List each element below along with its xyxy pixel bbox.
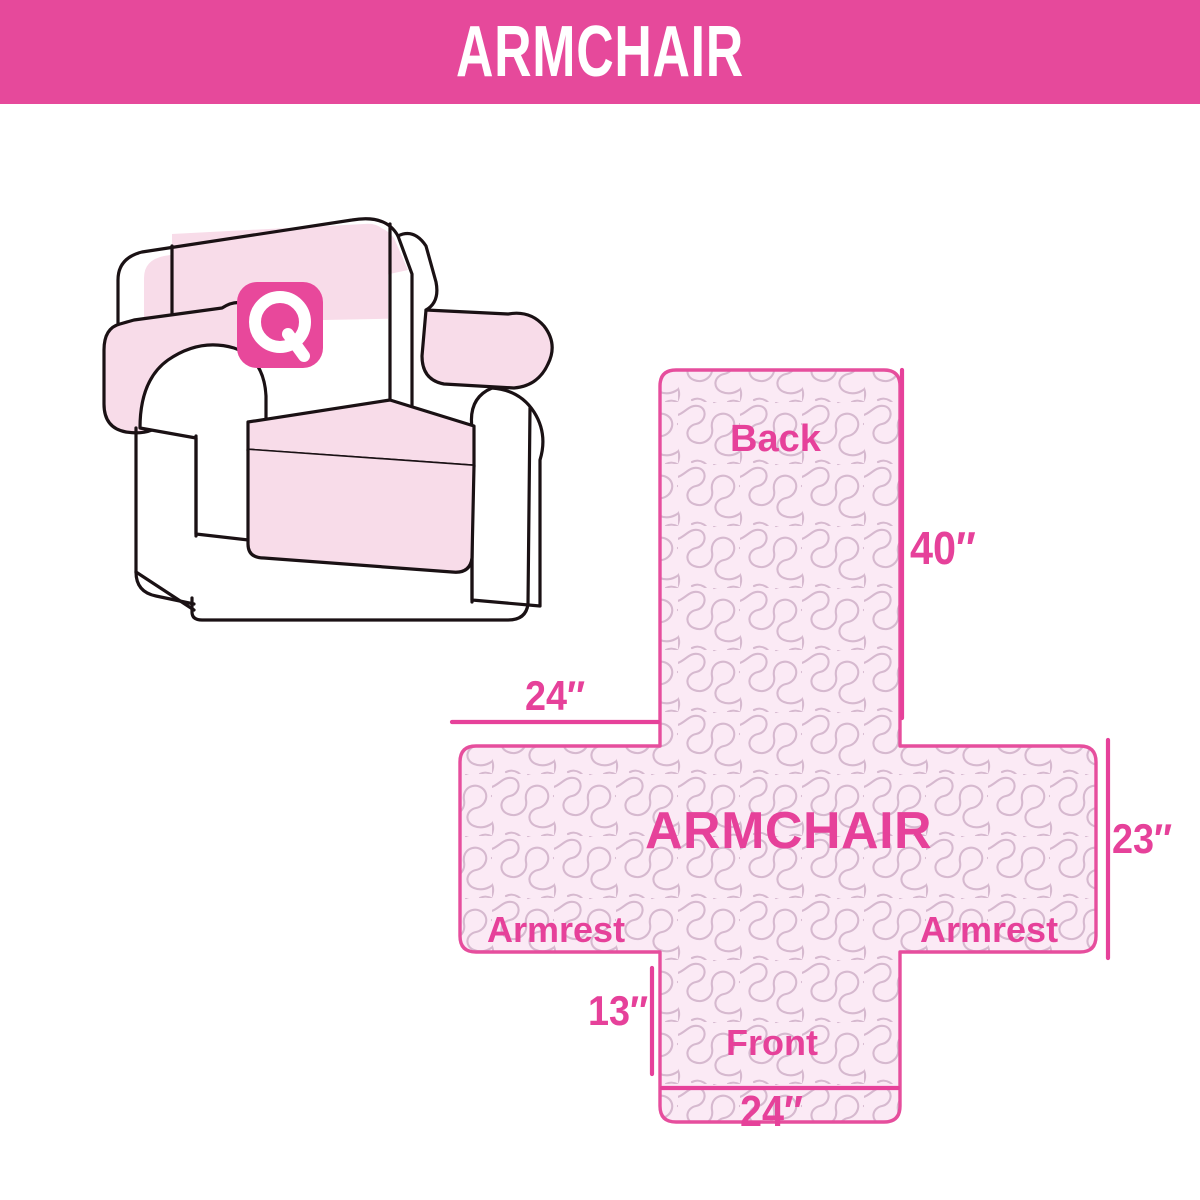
header-banner: ARMCHAIR <box>0 0 1200 104</box>
dimension-value-center-height: 23″ <box>1112 818 1172 860</box>
dimension-value-back-height: 40″ <box>910 525 976 571</box>
dimension-value-front-width: 24″ <box>740 1090 803 1134</box>
dimension-value-front-height: 13″ <box>588 990 648 1032</box>
panel-label-front: Front <box>726 1025 818 1061</box>
chair-back-right-roll <box>398 234 437 310</box>
panel-label-armchair: ARMCHAIR <box>645 805 932 857</box>
panel-label-armrest-right: Armrest <box>920 912 1058 948</box>
dimension-value-back-width: 24″ <box>525 675 585 717</box>
cross-cover-shape <box>460 370 1096 1122</box>
panel-label-back: Back <box>730 420 821 458</box>
page-root: ARMCHAIR <box>0 0 1200 1200</box>
cross-shape-path <box>460 370 1096 1122</box>
panel-label-armrest-left: Armrest <box>487 912 625 948</box>
q-logo-badge <box>237 282 323 368</box>
cover-pattern-diagram: Back ARMCHAIR Armrest Armrest Front 40″ … <box>430 340 1200 1140</box>
page-title: ARMCHAIR <box>456 16 744 88</box>
pattern-diagram-svg <box>430 340 1200 1140</box>
